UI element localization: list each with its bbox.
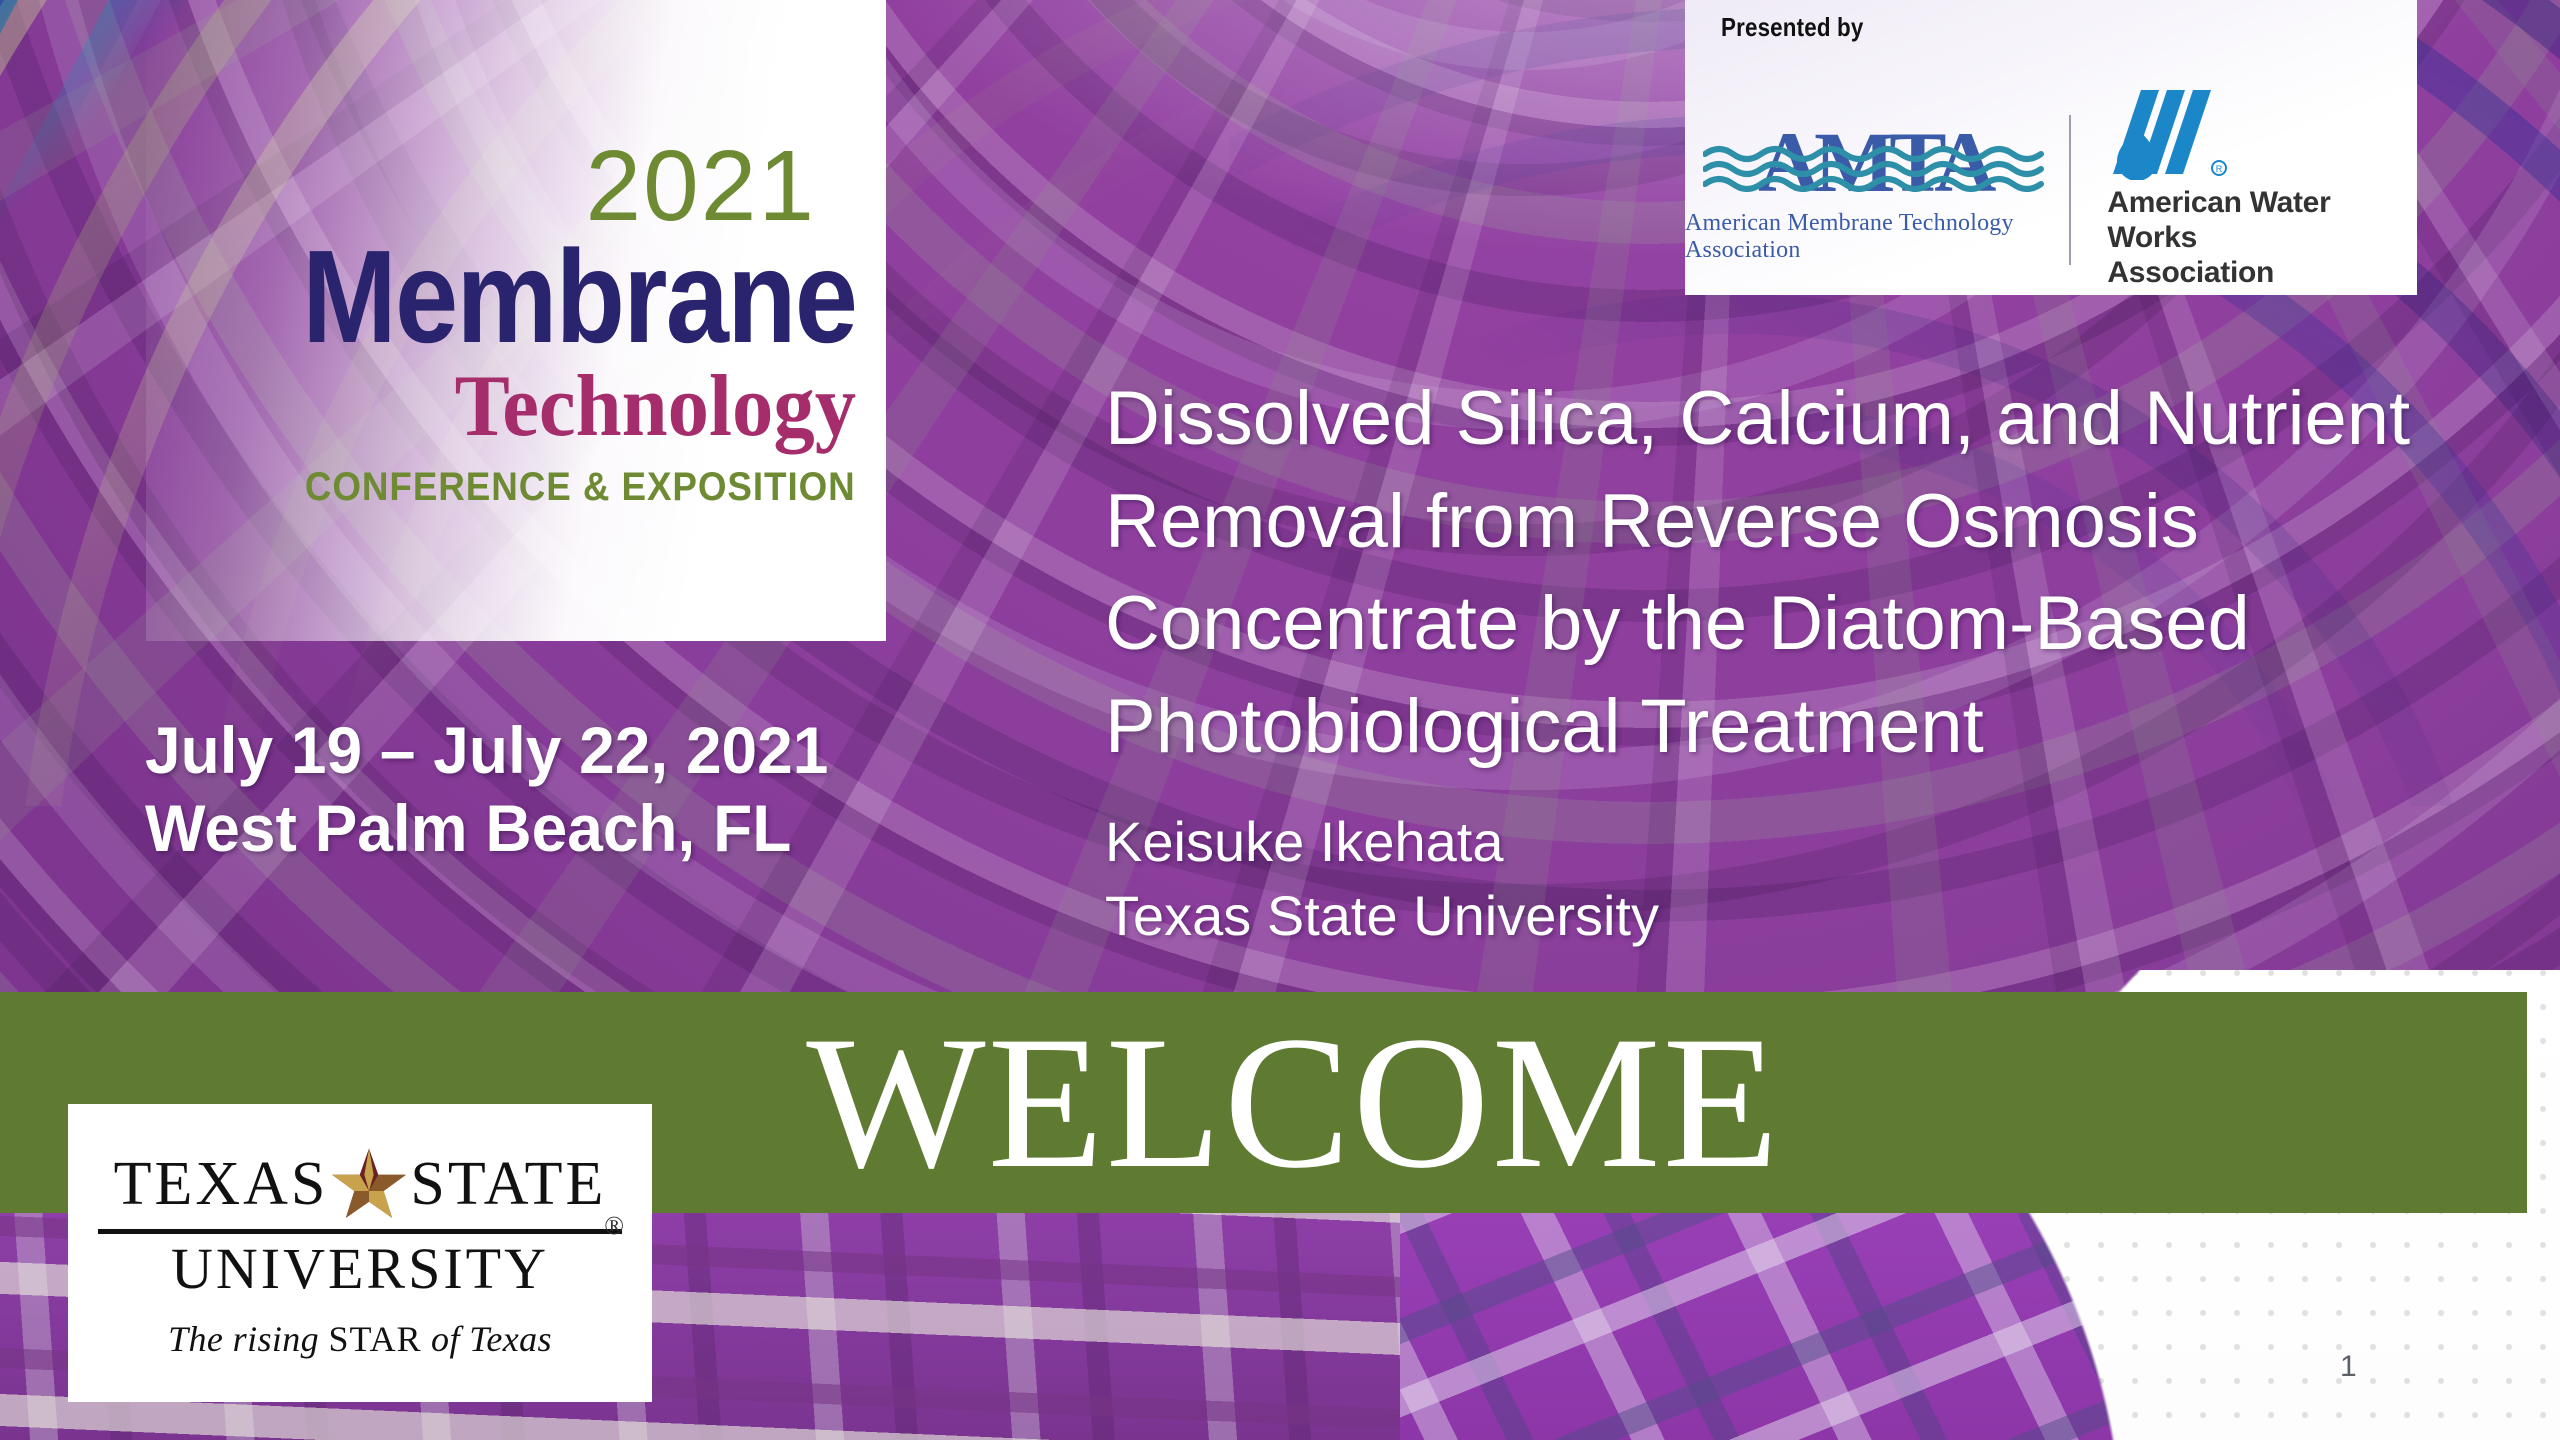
university-word-texas: TEXAS <box>114 1153 329 1215</box>
presented-by-card: Presented by AMTA American Membrane Tech… <box>1685 0 2417 295</box>
university-tagline-star: STAR <box>329 1319 422 1359</box>
university-tagline: The rising STAR of Texas <box>168 1318 552 1360</box>
talk-title: Dissolved Silica, Calcium, and Nutrient … <box>1105 368 2435 778</box>
presented-by-label: Presented by <box>1721 12 1863 43</box>
sponsor-logos-row: AMTA American Membrane Technology Associ… <box>1685 102 2417 277</box>
presentation-slide: 2021 Membrane Technology CONFERENCE & EX… <box>0 0 2560 1440</box>
university-logo-card: TEXAS STATE ® UNIVERSITY The rising STAR… <box>68 1104 652 1402</box>
university-logo-line1: TEXAS STATE <box>114 1147 607 1221</box>
university-tagline-pre: The rising <box>168 1319 328 1359</box>
slide-number: 1 <box>2340 1350 2357 1384</box>
awwa-logo: R American Water Works Association <box>2089 88 2417 290</box>
awwa-droplet-icon: R <box>2107 88 2235 180</box>
conference-word-technology: Technology <box>455 363 856 451</box>
university-logo-line2: UNIVERSITY <box>171 1240 549 1298</box>
sponsor-logo-divider <box>2069 115 2071 265</box>
university-logo-content: TEXAS STATE ® UNIVERSITY The rising STAR… <box>68 1104 652 1402</box>
conference-logo-card: 2021 Membrane Technology CONFERENCE & EX… <box>146 0 886 641</box>
conference-word-membrane: Membrane <box>302 236 856 357</box>
talk-presenter: Keisuke Ikehata Texas State University <box>1105 805 2205 953</box>
amta-wordmark: AMTA <box>1709 116 2039 208</box>
event-dates-location: July 19 – July 22, 2021 West Palm Beach,… <box>145 712 828 868</box>
amta-logo: AMTA American Membrane Technology Associ… <box>1685 116 2063 264</box>
university-word-state: STATE <box>410 1153 606 1215</box>
university-logo-rule: ® <box>98 1229 622 1234</box>
conference-logo-content: 2021 Membrane Technology CONFERENCE & EX… <box>146 0 886 641</box>
registered-trademark-icon: ® <box>604 1211 624 1241</box>
amta-full-name: American Membrane Technology Association <box>1685 210 2063 264</box>
conference-year: 2021 <box>586 140 816 232</box>
awwa-full-name: American Water Works Association <box>2107 186 2417 290</box>
university-tagline-post: of Texas <box>422 1319 552 1359</box>
svg-text:R: R <box>2216 164 2223 174</box>
texas-star-icon <box>330 1147 408 1221</box>
conference-subtitle: CONFERENCE & EXPOSITION <box>305 467 856 507</box>
amta-wave-icon <box>1703 142 2045 192</box>
